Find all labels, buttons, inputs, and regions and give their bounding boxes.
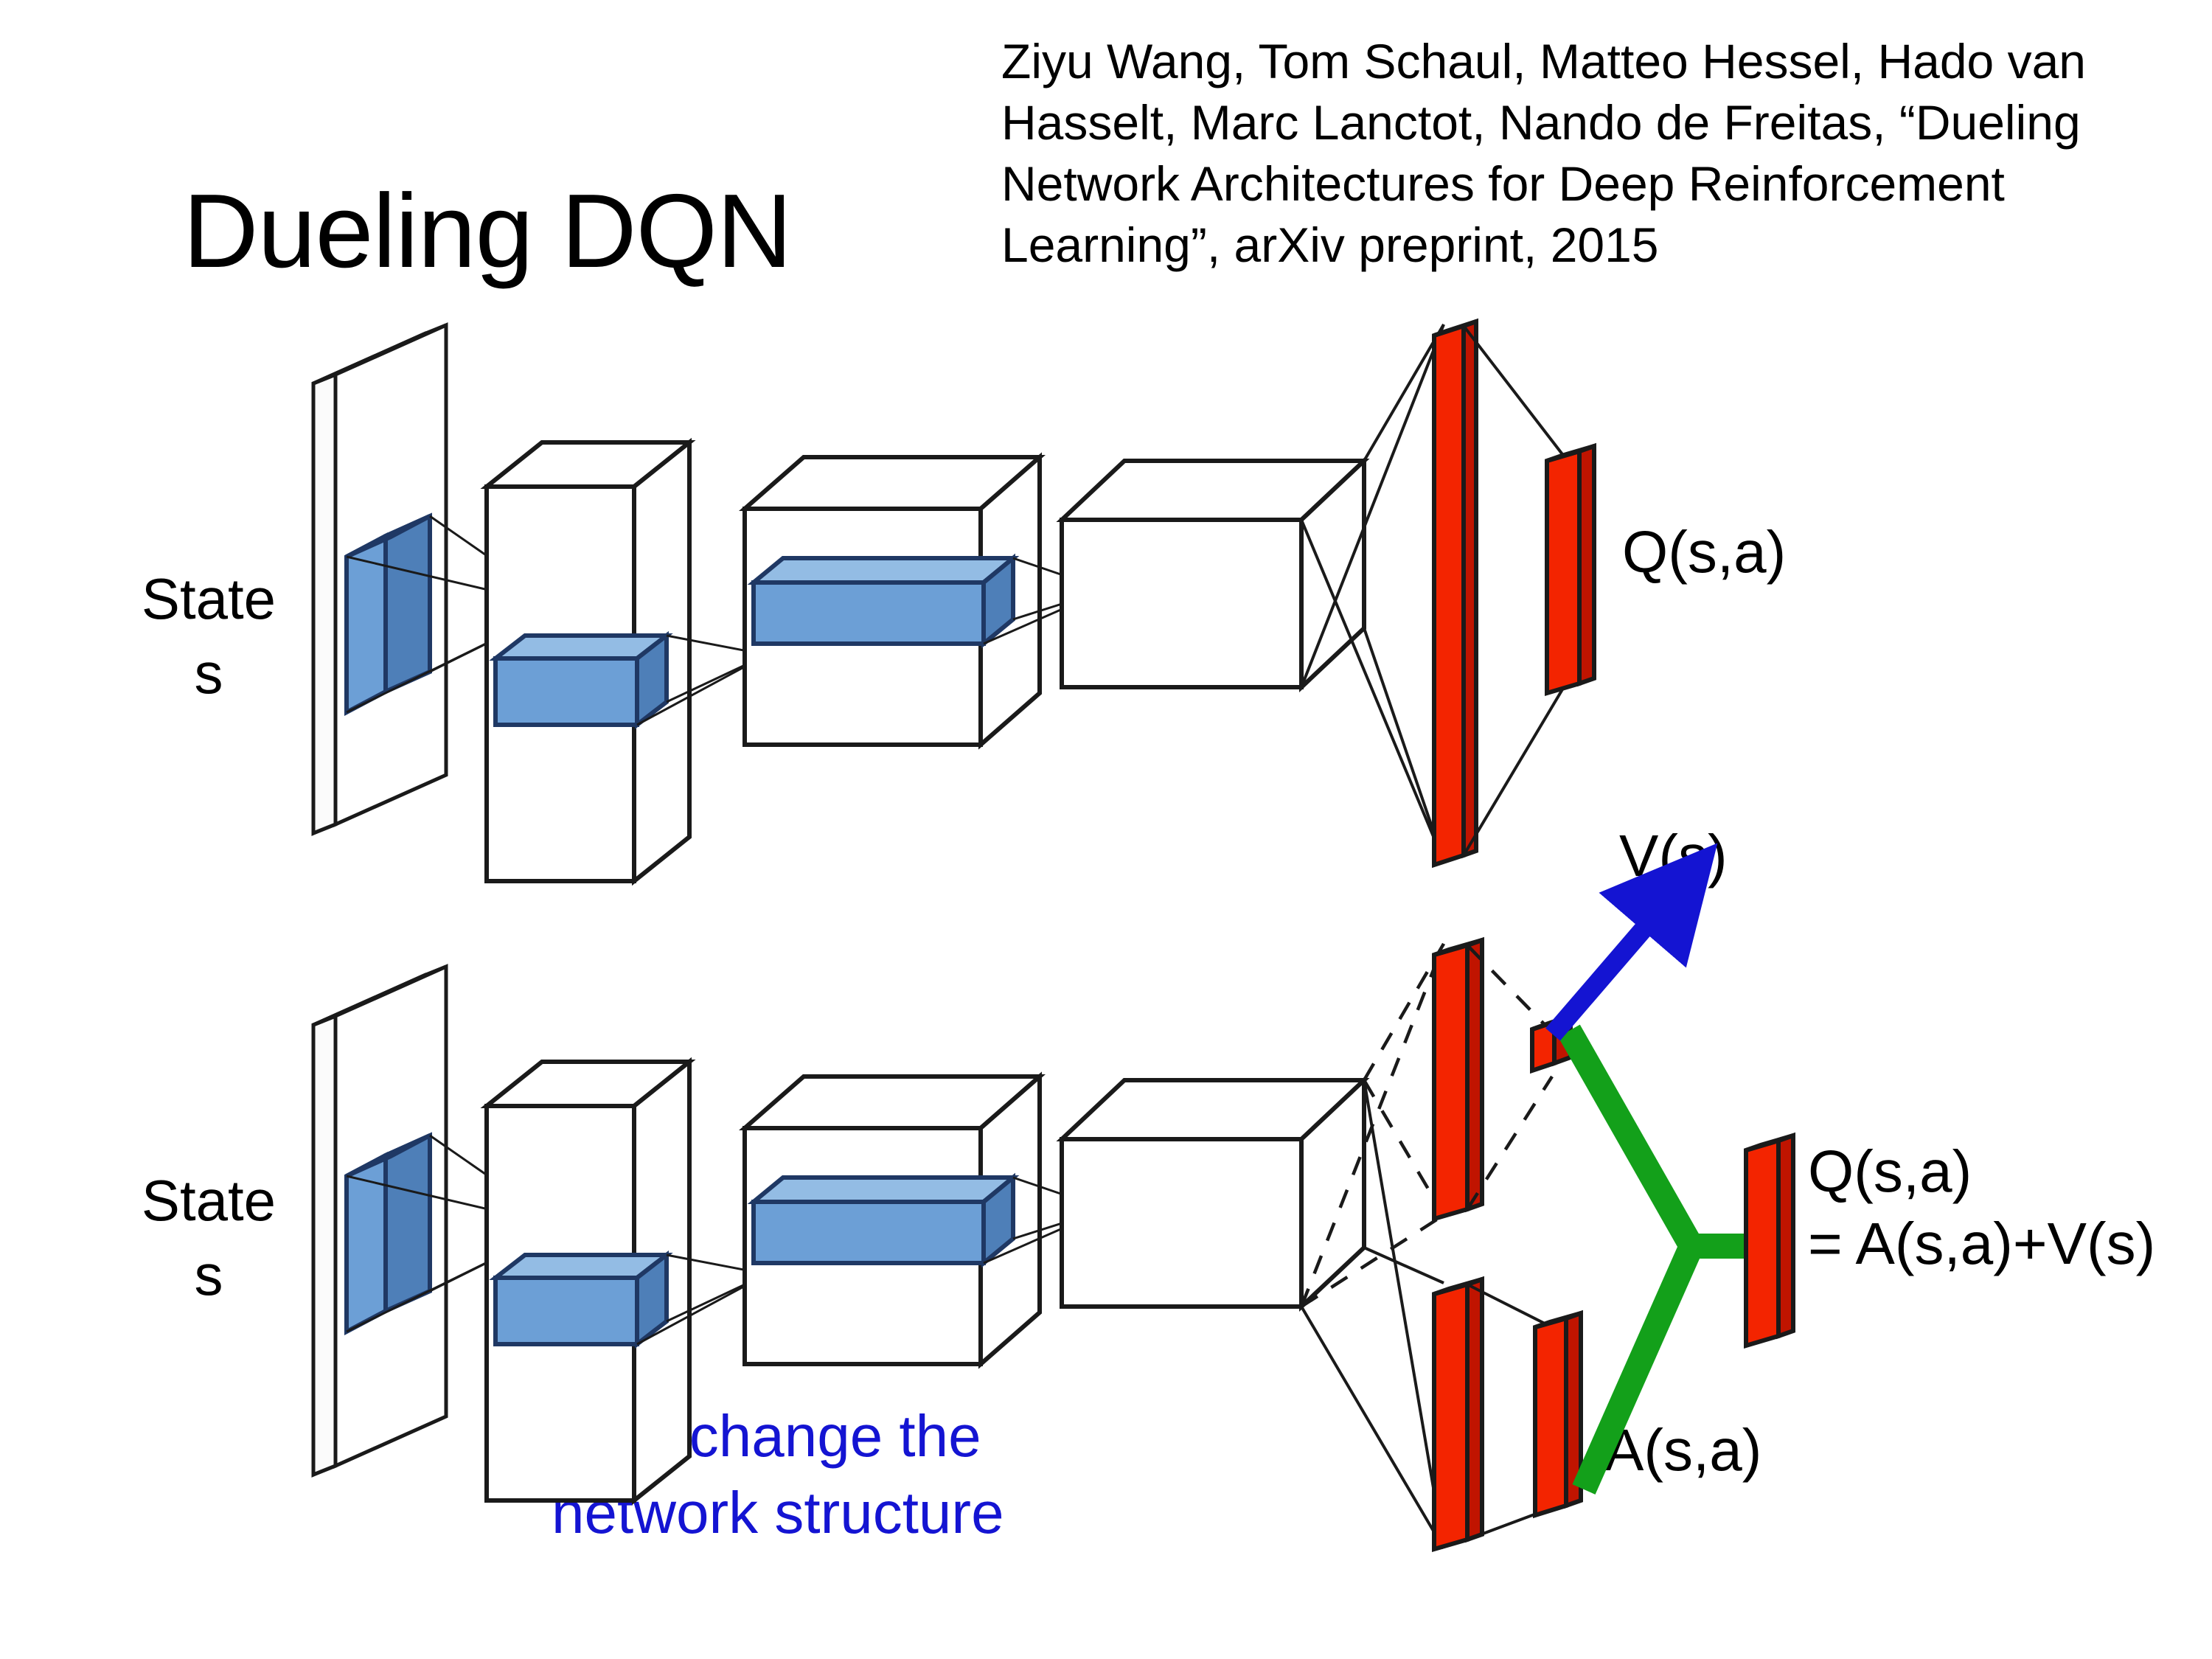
- top-input-plane: [313, 325, 446, 833]
- page-title: Dueling DQN: [183, 171, 792, 292]
- citation-text: Ziyu Wang, Tom Schaul, Matteo Hessel, Ha…: [1001, 31, 2211, 276]
- top-conv-cube-1: [487, 442, 689, 881]
- bottom-state-label: State s: [124, 1164, 293, 1313]
- bottom-conv-cube-2: [745, 1077, 1040, 1364]
- value-scalar-unit: [1532, 1016, 1571, 1071]
- value-stream-fan: [1301, 944, 1444, 1307]
- advantage-stream-fan: [1301, 1080, 1444, 1548]
- top-fan-2: [637, 636, 767, 725]
- bottom-fan-3: [984, 1178, 1106, 1263]
- bottom-conv-filter-1: [347, 1135, 430, 1332]
- top-output-fan: [1464, 326, 1565, 855]
- bottom-q-output-bar: [1746, 1135, 1793, 1346]
- advantage-fc-layer: [1434, 1279, 1482, 1549]
- bottom-q-label-line1: Q(s,a): [1808, 1135, 2155, 1208]
- advantage-label: A(s,a): [1604, 1414, 1761, 1486]
- bottom-q-label-line2: = A(s,a)+V(s): [1808, 1208, 2155, 1280]
- bottom-input-plane: [313, 967, 446, 1475]
- advantage-output-bar: [1535, 1313, 1581, 1515]
- top-fc-layer: [1434, 321, 1476, 865]
- top-q-label: Q(s,a): [1622, 516, 1786, 588]
- top-fan-1: [347, 516, 560, 712]
- top-fan-3: [984, 558, 1106, 644]
- bottom-q-label: Q(s,a) = A(s,a)+V(s): [1808, 1135, 2155, 1279]
- top-conv-cube-2: [745, 457, 1040, 745]
- bottom-conv-filter-2: [495, 1255, 667, 1344]
- bottom-state-label-line1: State: [124, 1164, 293, 1238]
- top-state-label-line1: State: [124, 562, 293, 636]
- value-fc-layer: [1434, 940, 1482, 1219]
- value-label: V(s): [1619, 820, 1728, 892]
- top-fc-fan: [1301, 324, 1444, 861]
- note-text: Only change the network structure: [552, 1398, 1156, 1551]
- value-arrow-icon: [1553, 913, 1658, 1034]
- top-network-group: [313, 321, 1594, 881]
- bottom-fan-1: [347, 1135, 560, 1332]
- bottom-conv-cube-3: [1062, 1080, 1364, 1307]
- top-conv-cube-3: [1062, 461, 1364, 687]
- top-conv-filter-3: [754, 558, 1013, 644]
- bottom-conv-filter-3: [754, 1178, 1013, 1263]
- value-scalar-fan: [1467, 945, 1552, 1209]
- top-conv-filter-1: [347, 516, 430, 712]
- top-conv-filter-2: [495, 636, 667, 725]
- advantage-output-fan: [1467, 1284, 1552, 1540]
- bottom-fan-2: [637, 1255, 767, 1344]
- top-q-output-bar: [1547, 446, 1594, 693]
- slide-canvas: Dueling DQN Ziyu Wang, Tom Schaul, Matte…: [0, 0, 2212, 1659]
- top-state-label-line2: s: [124, 636, 293, 711]
- bottom-state-label-line2: s: [124, 1238, 293, 1312]
- top-state-label: State s: [124, 562, 293, 712]
